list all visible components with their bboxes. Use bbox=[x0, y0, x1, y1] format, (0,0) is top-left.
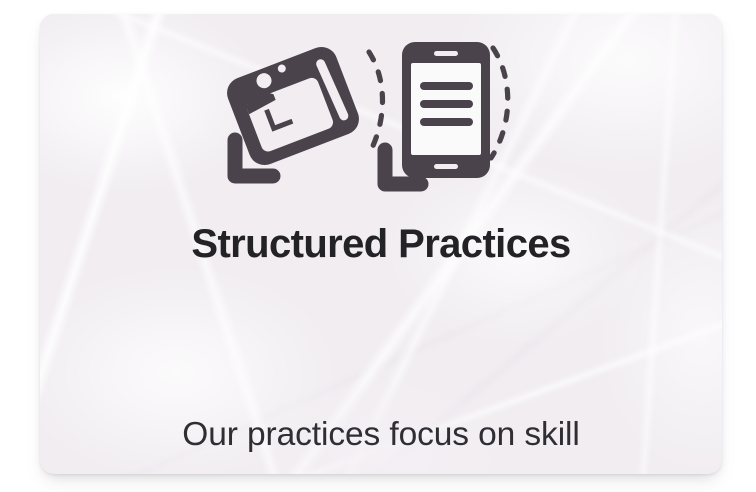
phone-screen-lines-icon bbox=[420, 82, 473, 126]
icon-group bbox=[40, 32, 722, 202]
description-line: Our practices focus on skill bbox=[71, 407, 691, 462]
description-text: Our practices focus on skill development… bbox=[71, 297, 691, 474]
tilted-card-icon bbox=[222, 42, 363, 169]
dashed-arc-right-icon bbox=[491, 48, 508, 158]
page-title: Structured Practices bbox=[40, 221, 722, 267]
page-canvas: Structured Practices Our practices focus… bbox=[0, 0, 756, 492]
dashed-arc-left-icon bbox=[369, 52, 383, 154]
feature-card: Structured Practices Our practices focus… bbox=[40, 14, 722, 474]
structured-practices-icon bbox=[221, 32, 541, 202]
smartphone-icon bbox=[402, 42, 490, 178]
